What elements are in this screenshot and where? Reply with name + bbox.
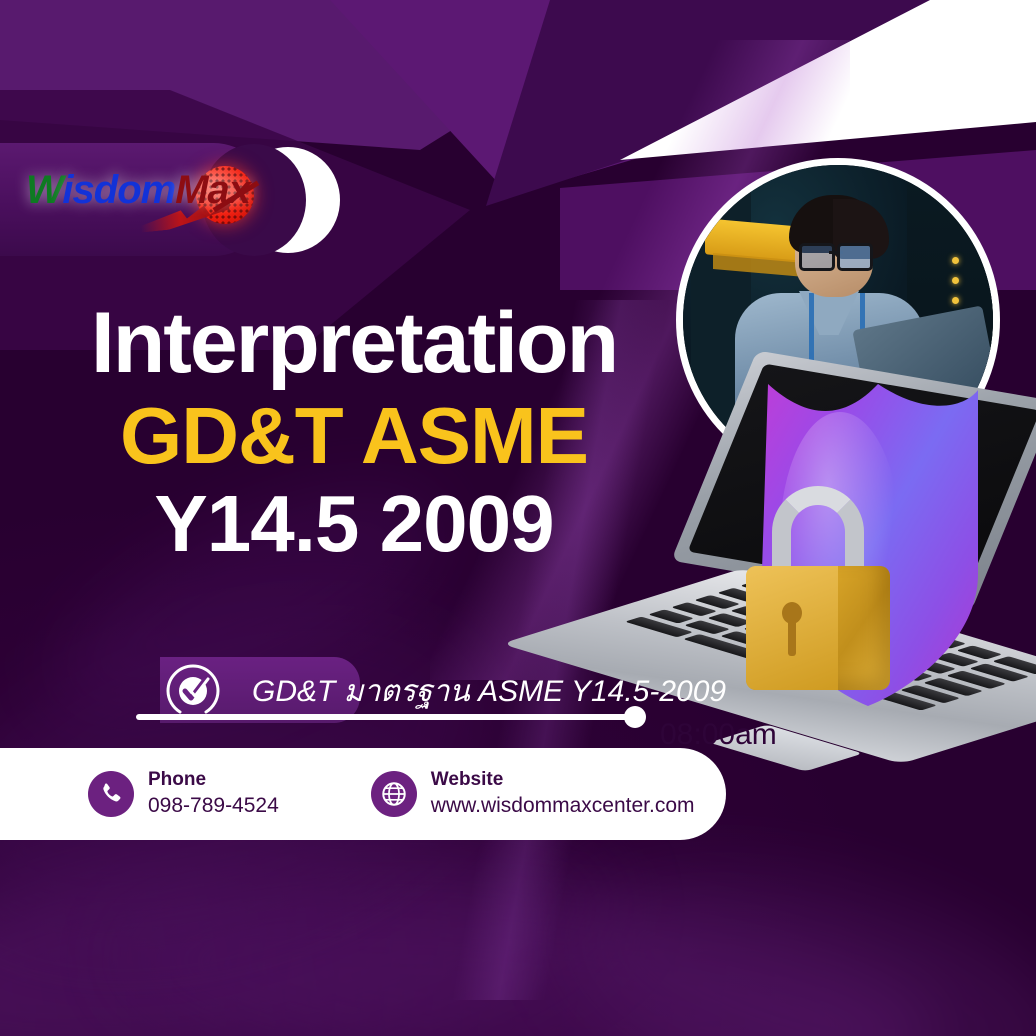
headline-line-3: Y14.5 2009: [34, 482, 674, 566]
globe-icon: [371, 771, 417, 817]
subtitle-text: GD&T มาตรฐาน ASME Y14.5-2009: [252, 668, 672, 715]
phone-value: 098-789-4524: [148, 792, 279, 819]
contact-phone[interactable]: Phone 098-789-4524: [88, 768, 279, 819]
padlock-3d-icon: [740, 486, 892, 692]
contact-website[interactable]: Website www.wisdommaxcenter.com: [371, 768, 695, 819]
subtitle-underline: [136, 714, 636, 720]
contact-bar: Phone 098-789-4524 Website www.wisdommax…: [0, 748, 726, 840]
logo-letter-w: W: [26, 168, 62, 212]
headline-line-2: GD&T ASME: [34, 394, 674, 478]
check-badge-icon: [162, 660, 224, 722]
promo-poster: WisdomMax Interpretation GD&T ASME Y14.5…: [0, 0, 1036, 1036]
headline-block: Interpretation GD&T ASME Y14.5 2009: [34, 300, 674, 566]
logo-slash-mark: [210, 172, 256, 218]
phone-icon: [88, 771, 134, 817]
subtitle-end-dot: [624, 706, 646, 728]
website-value: www.wisdommaxcenter.com: [431, 792, 695, 819]
headline-line-1: Interpretation: [34, 300, 674, 388]
logo-text-isdom: isdom: [62, 168, 175, 212]
phone-label: Phone: [148, 768, 279, 792]
event-time: 08:00am: [660, 718, 777, 752]
website-label: Website: [431, 768, 695, 792]
